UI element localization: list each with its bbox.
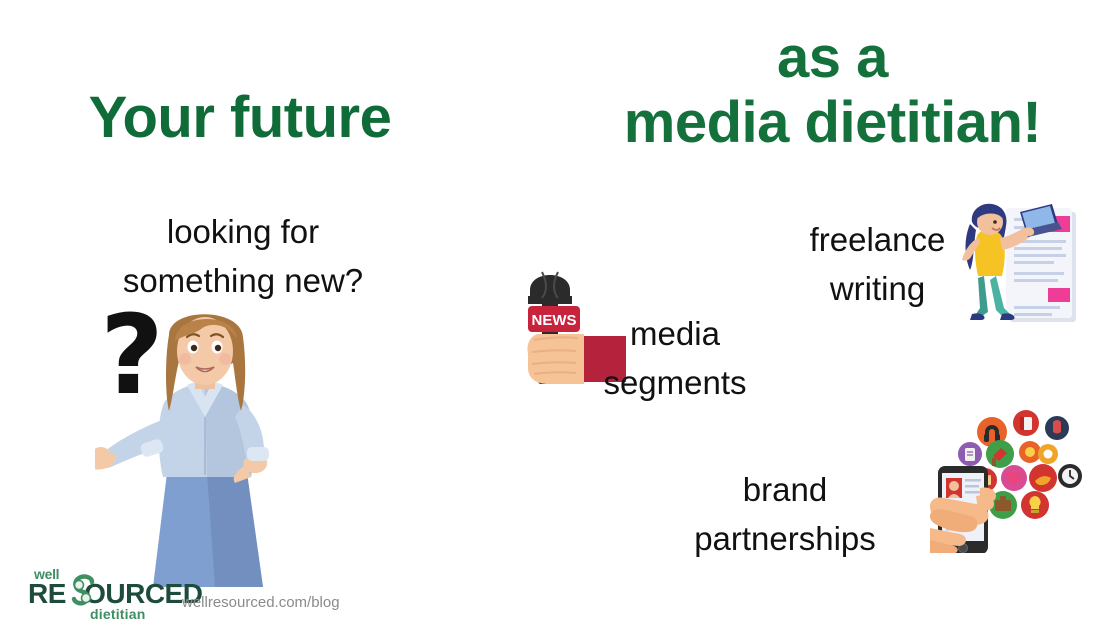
woman-shrugging-illustration: [95, 305, 325, 595]
caption-brand-line2: partnerships: [694, 520, 876, 557]
freelance-writing-illustration: [958, 196, 1088, 328]
headline-right-line1: as a: [560, 26, 1105, 91]
caption-freelance-line1: freelance: [810, 221, 946, 258]
logo-main-left: RE: [28, 578, 66, 609]
site-url[interactable]: wellresourced.com/blog: [182, 594, 340, 611]
caption-brand-line1: brand: [743, 471, 827, 508]
headline-right-line2: media dietitian!: [560, 91, 1105, 156]
poster-canvas: Your future as a media dietitian! lookin…: [0, 0, 1120, 630]
caption-media-segments: media segments: [560, 310, 790, 408]
caption-freelance-line2: writing: [830, 270, 925, 307]
caption-brand-partnerships: brand partnerships: [640, 466, 930, 564]
brand-logo[interactable]: well RESOURCED dietitian: [28, 566, 168, 618]
caption-media-line2: segments: [603, 364, 746, 401]
logo-dietitian-text: dietitian: [90, 606, 145, 622]
brand-partnerships-illustration: [930, 408, 1085, 553]
caption-left-line1: looking for: [167, 213, 319, 250]
headline-right: as a media dietitian!: [560, 26, 1105, 156]
headline-left: Your future: [40, 88, 440, 149]
caption-media-line1: media: [630, 315, 720, 352]
